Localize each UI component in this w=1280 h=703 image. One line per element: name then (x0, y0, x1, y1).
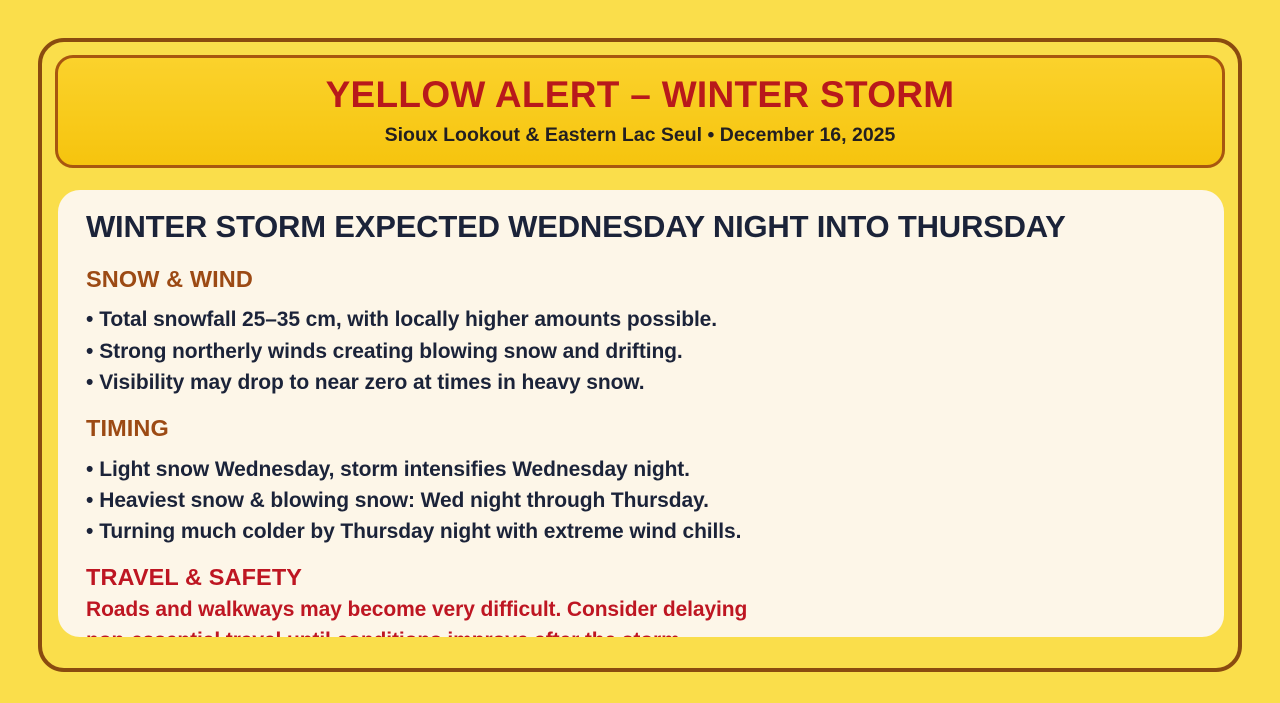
list-item: •Light snow Wednesday, storm intensifies… (86, 454, 1196, 485)
bullet-list-snow-and-wind: •Total snowfall 25–35 cm, with locally h… (86, 304, 1196, 397)
list-item: •Turning much colder by Thursday night w… (86, 516, 1196, 547)
advisory-line: non-essential travel until conditions im… (86, 625, 1196, 637)
list-item-text: Total snowfall 25–35 cm, with locally hi… (99, 308, 717, 331)
content-inner: WINTER STORM EXPECTED WEDNESDAY NIGHT IN… (58, 190, 1224, 637)
section-heading-timing: TIMING (86, 416, 1196, 442)
travel-advisory-text: Roads and walkways may become very diffi… (86, 594, 1196, 637)
list-item-text: Turning much colder by Thursday night wi… (99, 520, 741, 543)
list-item: •Total snowfall 25–35 cm, with locally h… (86, 304, 1196, 335)
bullet-dot-icon: • (86, 485, 93, 516)
alert-header-panel: YELLOW ALERT – WINTER STORM Sioux Lookou… (55, 55, 1225, 168)
bullet-dot-icon: • (86, 336, 93, 367)
section-travel-and-safety: TRAVEL & SAFETY Roads and walkways may b… (86, 565, 1196, 637)
section-heading-travel-and-safety: TRAVEL & SAFETY (86, 565, 1196, 591)
list-item-text: Strong northerly winds creating blowing … (99, 340, 682, 363)
section-heading-snow-and-wind: SNOW & WIND (86, 267, 1196, 293)
bullet-list-timing: •Light snow Wednesday, storm intensifies… (86, 454, 1196, 547)
bullet-dot-icon: • (86, 367, 93, 398)
list-item-text: Visibility may drop to near zero at time… (99, 371, 644, 394)
alert-content-card: WINTER STORM EXPECTED WEDNESDAY NIGHT IN… (58, 190, 1224, 637)
section-snow-and-wind: SNOW & WIND •Total snowfall 25–35 cm, wi… (86, 267, 1196, 398)
advisory-line: Roads and walkways may become very diffi… (86, 594, 1196, 625)
list-item-text: Heaviest snow & blowing snow: Wed night … (99, 489, 709, 512)
section-timing: TIMING •Light snow Wednesday, storm inte… (86, 416, 1196, 547)
alert-title: YELLOW ALERT – WINTER STORM (326, 76, 955, 115)
bullet-dot-icon: • (86, 304, 93, 335)
list-item: •Heaviest snow & blowing snow: Wed night… (86, 485, 1196, 516)
alert-subtitle: Sioux Lookout & Eastern Lac Seul • Decem… (385, 124, 896, 147)
list-item: •Strong northerly winds creating blowing… (86, 336, 1196, 367)
main-heading: WINTER STORM EXPECTED WEDNESDAY NIGHT IN… (86, 209, 1196, 245)
list-item-text: Light snow Wednesday, storm intensifies … (99, 458, 690, 481)
bullet-dot-icon: • (86, 454, 93, 485)
list-item: •Visibility may drop to near zero at tim… (86, 367, 1196, 398)
bullet-dot-icon: • (86, 516, 93, 547)
